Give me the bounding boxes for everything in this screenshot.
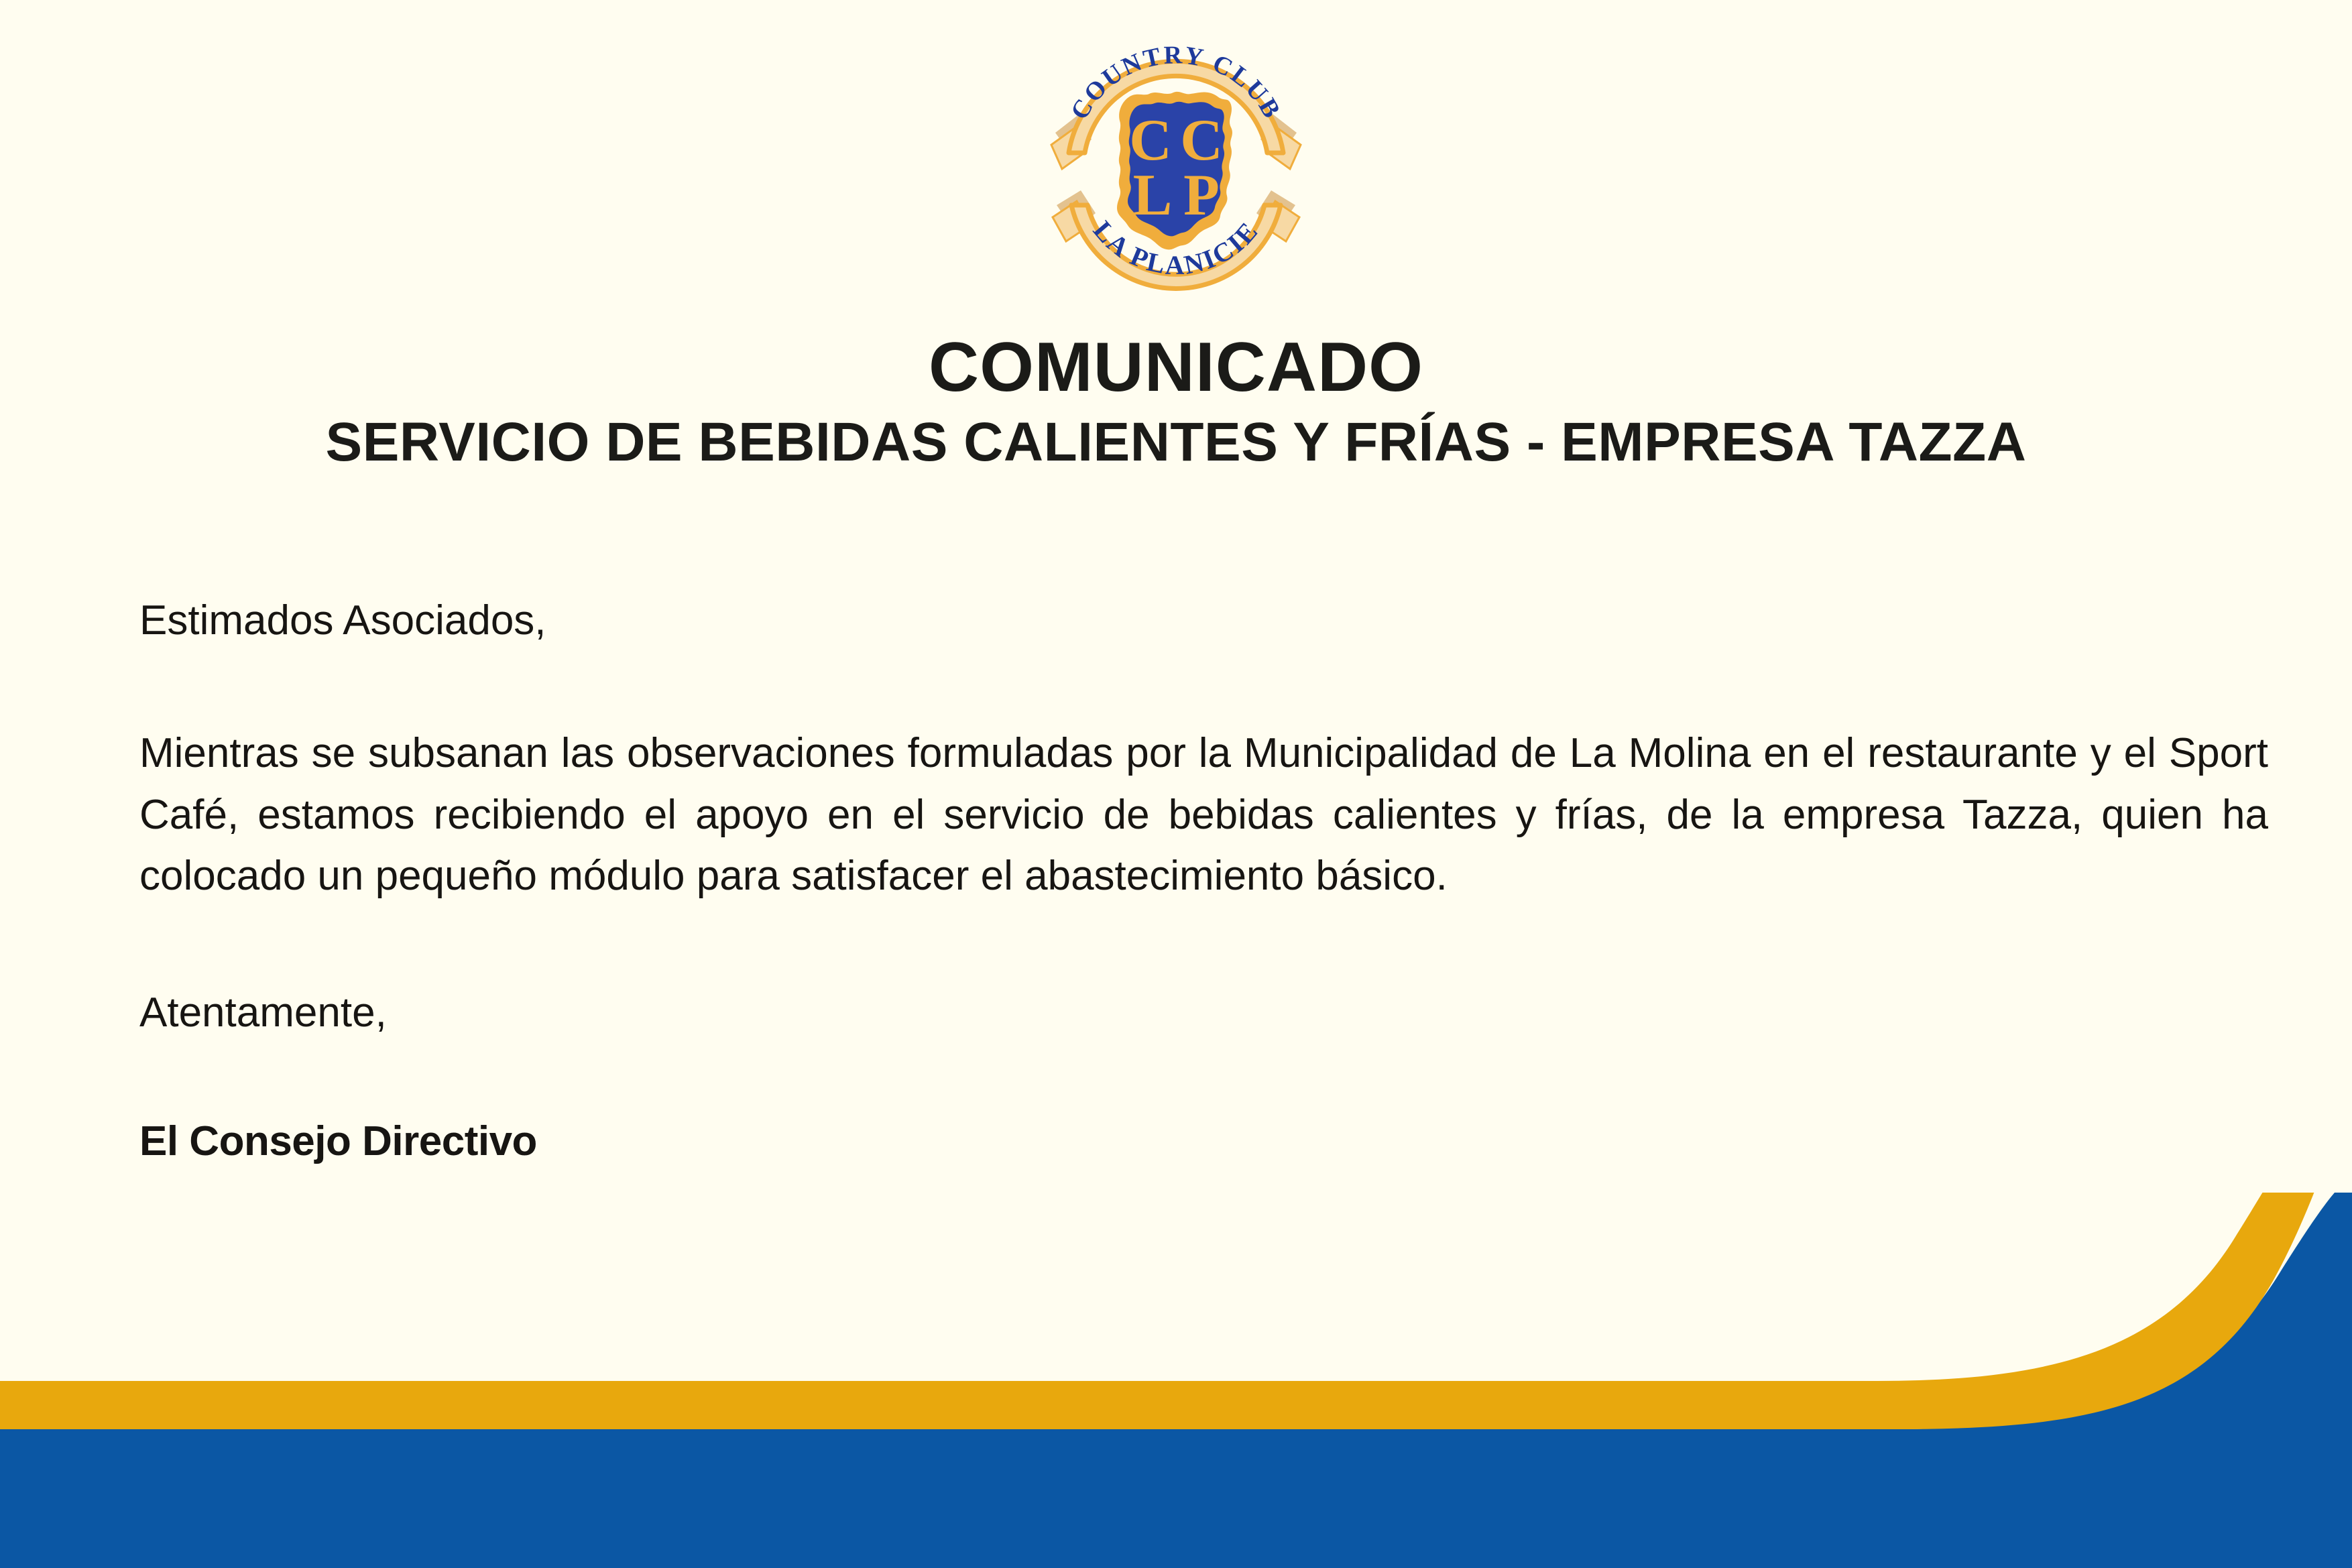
closing-line: Atentamente, [139,982,2268,1044]
club-logo: C C L P COUNTRY CLUB LA PLANICIE [1042,32,1310,300]
signature-line: El Consejo Directivo [139,1111,2268,1172]
main-paragraph: Mientras se subsanan las observaciones f… [139,723,2268,907]
title-block: COMUNICADO SERVICIO DE BEBIDAS CALIENTES… [0,330,2352,473]
footer-yellow-band [0,1193,2321,1429]
shield-letter-p: P [1183,163,1220,228]
comunicado-poster: C C L P COUNTRY CLUB LA PLANICIE COMUNIC… [0,0,2352,1568]
page-subtitle: SERVICIO DE BEBIDAS CALIENTES Y FRÍAS - … [0,412,2352,473]
letter-body: Estimados Asociados, Mientras se subsana… [139,590,2268,1172]
salutation: Estimados Asociados, [139,590,2268,652]
shield-letter-l: L [1133,163,1173,228]
page-title: COMUNICADO [0,330,2352,405]
footer-decoration [0,1193,2352,1568]
